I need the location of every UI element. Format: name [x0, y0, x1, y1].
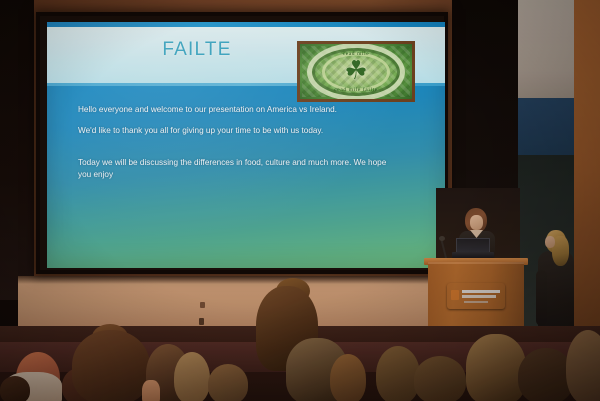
audience-hand: [142, 380, 160, 401]
audience-head: [330, 354, 366, 401]
left-dark-wall: [0, 0, 34, 300]
audience-head: [0, 376, 30, 401]
wall-fixture-icon: [200, 302, 205, 308]
shamrock-icon: ☘: [344, 57, 367, 83]
sign-text-line-3: [464, 301, 488, 303]
audience-head: [208, 364, 248, 401]
lower-wall-shadow: [18, 276, 458, 284]
audience-head: [376, 346, 420, 401]
audience-head: [174, 352, 210, 401]
projection-screen: FAILTE cead mile ☘ cead mile failte Hell…: [36, 12, 448, 274]
right-brown-wall: [574, 0, 600, 340]
plaque-text-bottom: cead mile failte: [300, 87, 412, 93]
sign-text-line-1: [462, 290, 500, 293]
blue-wall-panel: [518, 98, 580, 158]
slide-paragraph-1: Hello everyone and welcome to our presen…: [78, 104, 398, 116]
slide-paragraph-3: Today we will be discussing the differen…: [78, 157, 398, 182]
presenter-standing-face: [545, 236, 555, 248]
screen-frame-inner: FAILTE cead mile ☘ cead mile failte Hell…: [40, 16, 444, 270]
audience-head: [466, 334, 526, 401]
gray-wall-panel: [518, 0, 580, 100]
lecture-hall-photo: FAILTE cead mile ☘ cead mile failte Hell…: [0, 0, 600, 401]
wall-outlet-icon: [199, 318, 204, 325]
celtic-failte-plaque-image: cead mile ☘ cead mile failte: [297, 41, 415, 102]
slide-paragraph-2: We'd like to thank you all for giving up…: [78, 125, 398, 137]
audience-head: [414, 356, 466, 401]
presenter-standing-arm: [536, 270, 547, 326]
presentation-slide: FAILTE cead mile ☘ cead mile failte Hell…: [47, 22, 445, 268]
microphone-icon: [439, 236, 445, 241]
slide-body-text: Hello everyone and welcome to our presen…: [78, 104, 398, 190]
plaque-background: cead mile ☘ cead mile failte: [300, 44, 412, 99]
audience-head: [72, 330, 150, 401]
institution-logo-icon: [451, 290, 459, 300]
audience-head: [566, 330, 600, 401]
podium-institution-sign: [447, 283, 505, 309]
laptop-screen: [456, 238, 490, 253]
sign-text-line-2: [462, 295, 496, 298]
presenter-at-podium-face: [470, 215, 483, 230]
